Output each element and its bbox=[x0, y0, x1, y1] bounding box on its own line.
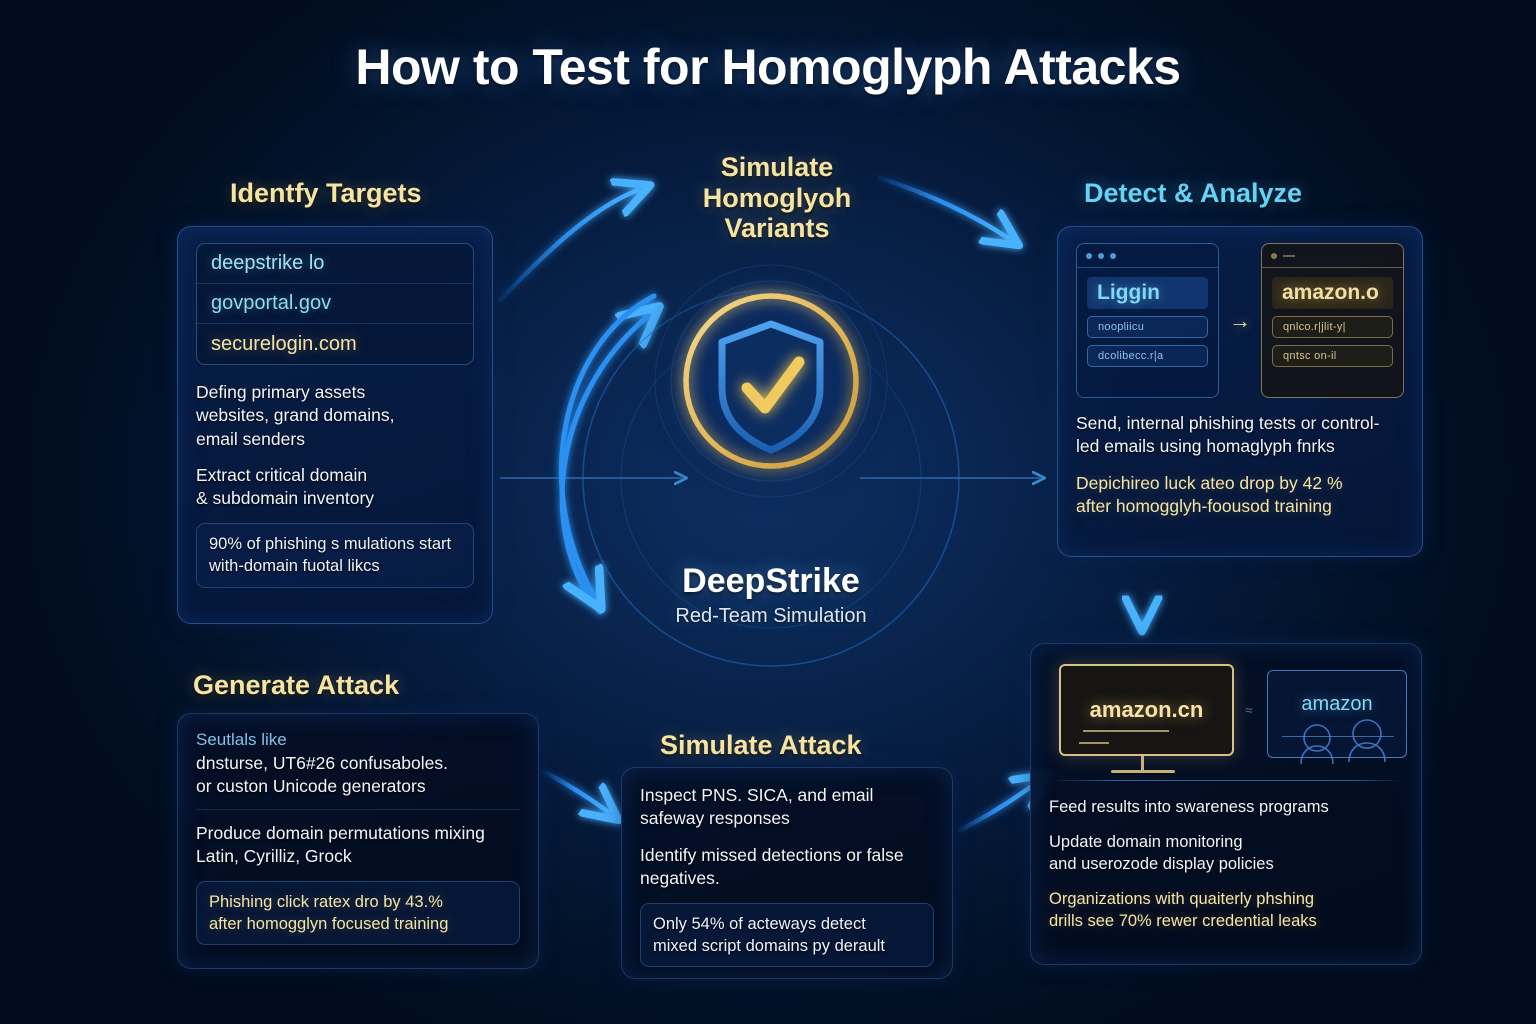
shield-check-icon bbox=[722, 324, 820, 450]
heading-simulate-variants: Simulate Homoglyoh Variants bbox=[697, 152, 857, 244]
browser-window-spoofed[interactable]: amazon.o qnlco.r|jlit-y| qntsc on-il bbox=[1261, 243, 1404, 398]
legit-field-2[interactable]: dcolibecc.r|a bbox=[1087, 345, 1208, 367]
browser-window-legit[interactable]: Liggin noopliicu dcolibecc.r|a bbox=[1076, 243, 1219, 398]
generate-sub-label: Seutlals like bbox=[196, 730, 520, 750]
generate-line-1: Produce domain permutations mixing Latin… bbox=[196, 822, 520, 869]
generate-tools-block: Seutlals like dnsturse, UT6#26 confusabo… bbox=[196, 730, 520, 810]
window-dot-icon bbox=[1086, 253, 1092, 259]
window-dot-icon bbox=[1271, 253, 1277, 259]
domain-value: deepstrike lo bbox=[211, 252, 324, 275]
heading-detect-analyze: Detect & Analyze bbox=[1084, 178, 1302, 209]
panel-simulate-attack: Inspect PNS. SICA, and email safeway res… bbox=[621, 767, 953, 979]
awareness-stat: Organizations with quaiterly phshing dri… bbox=[1049, 889, 1403, 933]
hub-subtitle: Red-Team Simulation bbox=[566, 605, 976, 628]
window-titlebar bbox=[1262, 244, 1403, 268]
window-titlebar bbox=[1077, 244, 1218, 268]
detect-stat: Depichireo luck ateo drop by 42 % after … bbox=[1076, 472, 1404, 519]
spoof-hero-label: amazon.o bbox=[1272, 277, 1393, 309]
awareness-line-1: Feed results into swareness programs bbox=[1049, 797, 1403, 819]
panel-identify-targets: deepstrike lo govportal.gov securelogin.… bbox=[177, 226, 493, 624]
heading-simulate-attack: Simulate Attack bbox=[660, 730, 862, 761]
table-row[interactable]: securelogin.com bbox=[197, 324, 473, 364]
identify-stat: 90% of phishing s mulations start with-d… bbox=[196, 523, 474, 587]
identify-line-1: Defing primary assets websites, grand do… bbox=[196, 381, 474, 451]
panel-detect-analyze: Liggin noopliicu dcolibecc.r|a → amazon.… bbox=[1057, 226, 1423, 557]
panel-generate-attack: Seutlals like dnsturse, UT6#26 confusabo… bbox=[177, 713, 539, 969]
detect-line-1: Send, internal phishing tests or control… bbox=[1076, 412, 1404, 459]
table-row[interactable]: deepstrike lo bbox=[197, 244, 473, 284]
spoof-field-1[interactable]: qnlco.r|jlit-y| bbox=[1272, 316, 1393, 338]
domain-value: securelogin.com bbox=[211, 333, 357, 356]
simulate-attack-line-2: Identify missed detections or false nega… bbox=[640, 844, 934, 891]
central-hub: DeepStrike Red-Team Simulation bbox=[566, 236, 976, 676]
transition-arrow-icon: → bbox=[1229, 310, 1251, 332]
monitor-comparison-illustration: amazon.cn ≈ amazon bbox=[1049, 660, 1403, 785]
detect-window-comparison: Liggin noopliicu dcolibecc.r|a → amazon.… bbox=[1076, 243, 1404, 398]
domain-value: govportal.gov bbox=[211, 292, 331, 315]
identify-line-2: Extract critical domain & subdomain inve… bbox=[196, 464, 474, 511]
simulate-attack-stat: Only 54% of acteways detect mixed script… bbox=[640, 903, 934, 967]
legit-field-1[interactable]: noopliicu bbox=[1087, 316, 1208, 338]
window-dash-icon bbox=[1283, 255, 1295, 257]
heading-generate-attack: Generate Attack bbox=[193, 670, 399, 701]
simulate-attack-line-1: Inspect PNS. SICA, and email safeway res… bbox=[640, 784, 934, 831]
window-dot-icon bbox=[1098, 253, 1104, 259]
heading-identify-targets: Identfy Targets bbox=[230, 178, 422, 209]
awareness-line-2: Update domain monitoring and userozode d… bbox=[1049, 832, 1403, 876]
generate-stat: Phishing click ratex dro by 43.% after h… bbox=[196, 881, 520, 945]
people-silhouettes-icon bbox=[1049, 660, 1441, 785]
window-dot-icon bbox=[1110, 253, 1116, 259]
hub-title: DeepStrike bbox=[566, 562, 976, 601]
panel-awareness: amazon.cn ≈ amazon Feed results into swa bbox=[1030, 643, 1422, 965]
legit-hero-label: Liggin bbox=[1087, 277, 1208, 309]
target-domain-table: deepstrike lo govportal.gov securelogin.… bbox=[196, 243, 474, 365]
generate-tools: dnsturse, UT6#26 confusaboles. or custon… bbox=[196, 752, 520, 799]
table-row[interactable]: govportal.gov bbox=[197, 284, 473, 324]
spoof-field-2[interactable]: qntsc on-il bbox=[1272, 345, 1393, 367]
infographic-canvas: How to Test for Homoglyph Attacks bbox=[0, 0, 1536, 1024]
